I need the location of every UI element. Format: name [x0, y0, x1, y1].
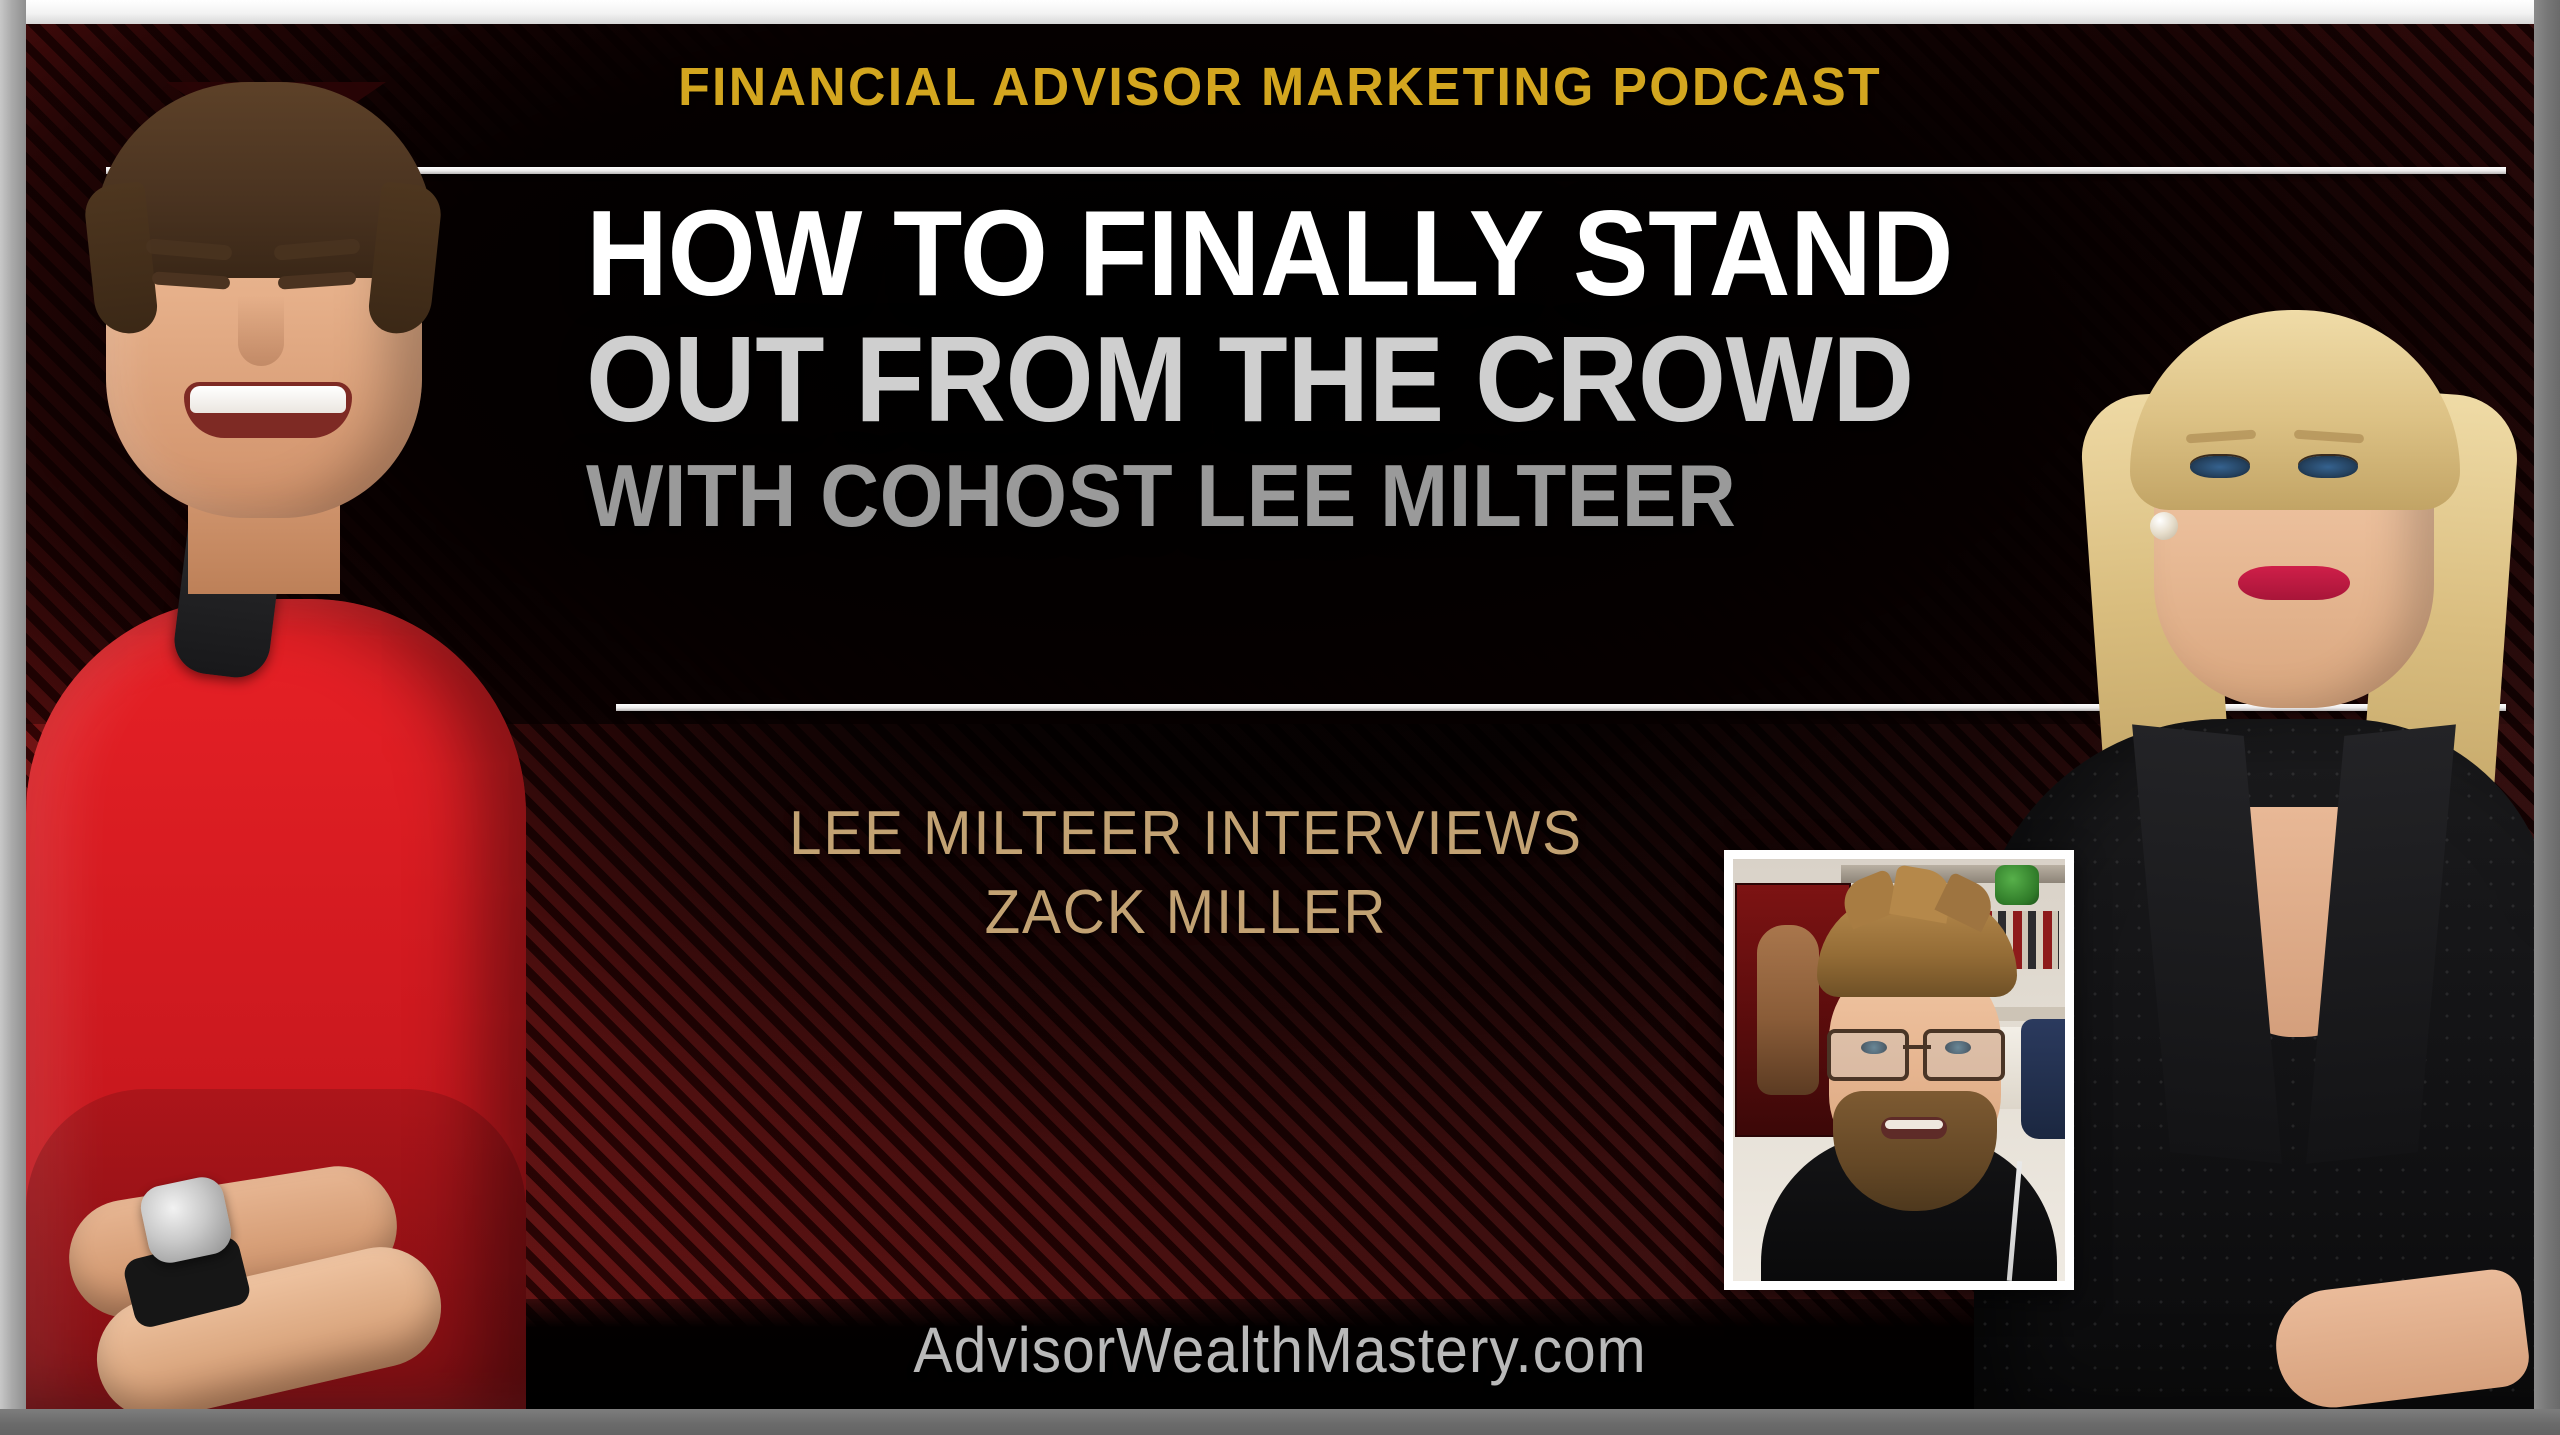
- frame-border-left: [0, 0, 26, 1435]
- headline-line-2: OUT FROM THE CROWD: [586, 320, 2093, 440]
- frame-border-top: [0, 0, 2560, 24]
- artwork-canvas: FINANCIAL ADVISOR MARKETING PODCAST HOW …: [26, 24, 2534, 1409]
- mouth: [184, 382, 352, 438]
- poster-figure: [1757, 925, 1819, 1095]
- teeth: [1885, 1120, 1943, 1129]
- teeth: [190, 386, 346, 413]
- lips: [2238, 566, 2350, 600]
- website-url: AdvisorWealthMastery.com: [126, 1313, 2433, 1387]
- podcast-episode-cover: FINANCIAL ADVISOR MARKETING PODCAST HOW …: [0, 0, 2560, 1435]
- glasses-bridge: [1903, 1045, 1931, 1049]
- webcam-video-frame: [1733, 859, 2065, 1281]
- green-figurine: [1995, 865, 2039, 905]
- lens-left: [1827, 1029, 1909, 1081]
- eye-right: [2298, 456, 2358, 478]
- lens-right: [1923, 1029, 2005, 1081]
- headline-line-3: WITH COHOST LEE MILTEER: [586, 453, 2093, 539]
- interview-line-2: ZACK MILLER: [622, 873, 1750, 952]
- host-photo-left: [26, 64, 536, 1409]
- frame-border-bottom: [0, 1409, 2560, 1435]
- hanging-cloth: [2021, 1019, 2065, 1139]
- frame-border-right: [2534, 0, 2560, 1435]
- guest-webcam-inset: [1724, 850, 2074, 1290]
- podcast-name-kicker: FINANCIAL ADVISOR MARKETING PODCAST: [76, 56, 2484, 118]
- episode-headline: HOW TO FINALLY STAND OUT FROM THE CROWD …: [586, 194, 2206, 539]
- headline-line-1: HOW TO FINALLY STAND: [586, 194, 2093, 314]
- interview-line-1: LEE MILTEER INTERVIEWS: [622, 794, 1750, 873]
- nose: [238, 296, 284, 366]
- eyeglasses-icon: [1825, 1029, 2007, 1073]
- interview-credit: LEE MILTEER INTERVIEWS ZACK MILLER: [622, 794, 1750, 953]
